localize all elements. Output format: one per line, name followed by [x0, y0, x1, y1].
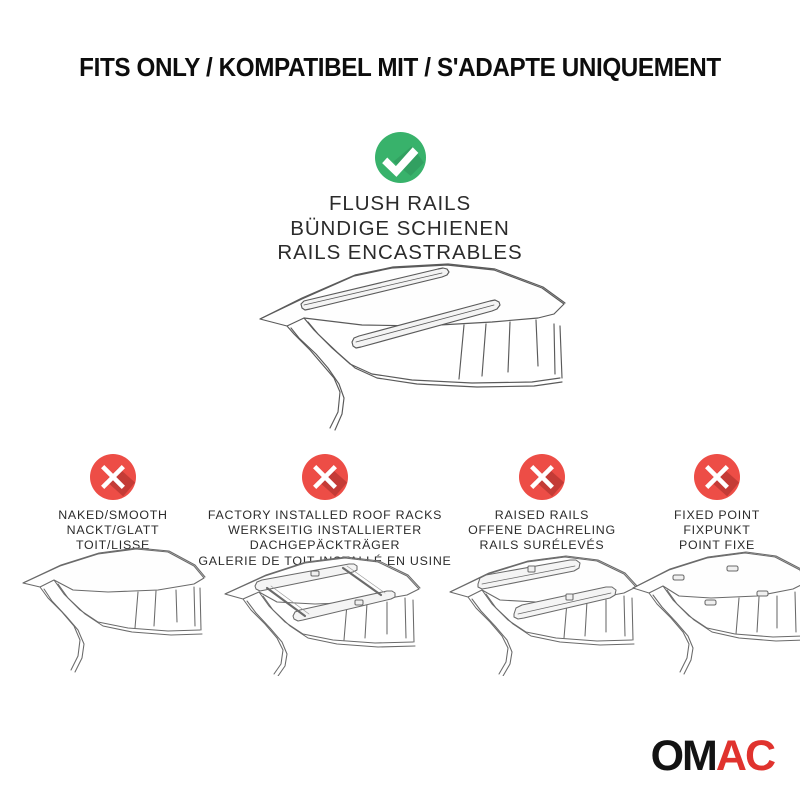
car-roof-fixed-point-illustration	[627, 546, 800, 681]
logo-text-red: AC	[716, 732, 774, 780]
car-roof-factory-racks-illustration	[215, 546, 435, 681]
car-roof-naked-illustration	[18, 546, 208, 681]
logo-text-black: OM	[651, 732, 716, 780]
option-label-en: FACTORY INSTALLED ROOF RACKS	[192, 508, 458, 523]
approved-label-de: BÜNDIGE SCHIENEN	[0, 217, 800, 242]
rejected-option-raised-rails: RAISED RAILS OFFENE DACHRELING RAILS SUR…	[442, 450, 642, 554]
x-circle-icon	[90, 454, 136, 500]
check-circle-icon	[375, 132, 426, 183]
x-circle-icon	[302, 454, 348, 500]
option-label-en: RAISED RAILS	[442, 508, 642, 523]
option-label-en: FIXED POINT	[634, 508, 800, 523]
rejected-option-naked: NAKED/SMOOTH NACKT/GLATT TOIT/LISSE	[18, 450, 208, 554]
rejected-option-factory-racks: FACTORY INSTALLED ROOF RACKS WERKSEITIG …	[192, 450, 458, 569]
omac-logo: OMAC	[651, 735, 774, 778]
option-label-en: NAKED/SMOOTH	[18, 508, 208, 523]
car-roof-raised-rails-illustration	[442, 546, 642, 681]
approved-label-en: FLUSH RAILS	[0, 192, 800, 217]
page-title: FITS ONLY / KOMPATIBEL MIT / S'ADAPTE UN…	[20, 54, 780, 83]
option-label-de: NACKT/GLATT	[18, 523, 208, 538]
car-roof-flush-rails-illustration	[242, 262, 572, 437]
option-label-de: FIXPUNKT	[634, 523, 800, 538]
x-circle-icon	[694, 454, 740, 500]
approved-option: FLUSH RAILS BÜNDIGE SCHIENEN RAILS ENCAS…	[0, 132, 800, 266]
option-label-de: WERKSEITIG INSTALLIERTER	[192, 523, 458, 538]
x-circle-icon	[519, 454, 565, 500]
rejected-option-fixed-point: FIXED POINT FIXPUNKT POINT FIXE	[634, 450, 800, 554]
approved-labels: FLUSH RAILS BÜNDIGE SCHIENEN RAILS ENCAS…	[0, 192, 800, 266]
option-label-de: OFFENE DACHRELING	[442, 523, 642, 538]
